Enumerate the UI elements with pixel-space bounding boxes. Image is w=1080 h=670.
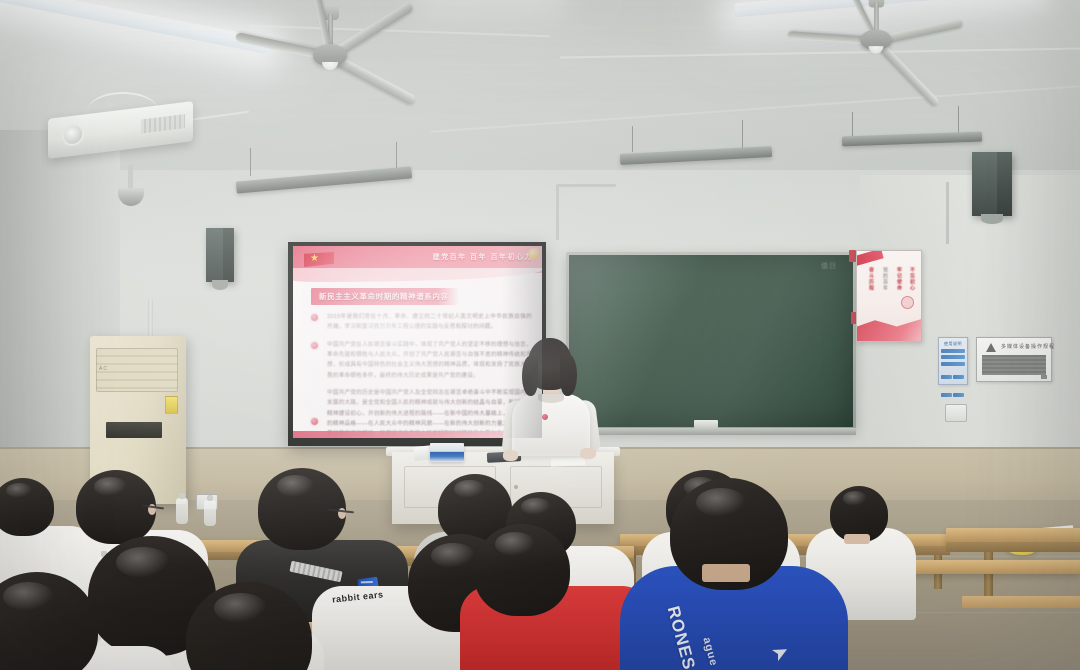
table-row — [946, 528, 1080, 542]
projection-screen: ★ 建党百年 百年 百年初心力 新民主主义革命时期的精神谱系内容 2019年是我… — [288, 242, 546, 446]
poster-wave-graphic — [857, 313, 921, 341]
student-neck — [844, 534, 870, 544]
speaker-grille — [972, 152, 997, 216]
presenter-right-hand — [580, 448, 596, 459]
projector-vent — [141, 114, 185, 133]
star-glyph: ★ — [310, 254, 319, 264]
poster-ribbon — [856, 250, 884, 267]
bottle-cap — [207, 495, 213, 501]
sign-row — [953, 393, 964, 397]
red-propaganda-poster: 不忘初心 牢记使命 党的百年 奋斗历程 — [856, 250, 922, 342]
sign-text-panel — [982, 355, 1046, 375]
ac-pipe — [148, 300, 153, 340]
desk-apron — [946, 542, 1080, 552]
pendant-wire — [742, 120, 743, 150]
white-warning-sign: 多媒体设备操作规程 — [976, 337, 1052, 382]
list-item: 2019年是我们党在十月、革命、建立的二十世纪人类文明史上中华民族自强的开端，学… — [307, 312, 532, 333]
ac-badge — [165, 396, 178, 414]
sign-row — [941, 349, 965, 353]
board-sheen — [569, 255, 853, 427]
bullet-dot-icon — [311, 342, 318, 349]
ac-display-vent — [106, 422, 162, 438]
student-head — [76, 470, 156, 544]
slide-title: 新民主主义革命时期的精神谱系内容 — [311, 288, 459, 305]
sign-row — [953, 375, 964, 379]
presenter-hair-strand — [560, 354, 577, 396]
powerpoint-slide: ★ 建党百年 百年 百年初心力 新民主主义革命时期的精神谱系内容 2019年是我… — [293, 246, 542, 438]
warning-triangle-icon — [986, 343, 996, 352]
bullet-dot-icon — [311, 418, 318, 425]
pendant-wire — [852, 112, 853, 136]
pendant-wire — [958, 106, 959, 134]
bottle-cap — [179, 493, 185, 499]
sign-row — [941, 393, 952, 397]
water-bottle-center[interactable] — [204, 500, 216, 526]
wall-conduit — [556, 186, 559, 240]
wall-speaker-left — [206, 228, 234, 282]
chalkboard-note: 值日 — [821, 261, 837, 271]
sign-row — [941, 355, 965, 359]
board-eraser[interactable] — [694, 420, 718, 428]
chalkboard-surface: 值日 — [569, 255, 853, 427]
blue-instruction-sign: 使用说明 — [938, 337, 968, 385]
student-head — [474, 524, 570, 616]
podium-knob[interactable] — [514, 485, 518, 489]
student-neck — [702, 564, 750, 582]
board-clip — [849, 250, 856, 262]
poster-column-2: 牢记使命 — [893, 267, 902, 291]
presenter-shadow — [502, 246, 542, 438]
poster-seal — [901, 296, 914, 309]
speaker-bracket — [212, 280, 228, 290]
chalk-tray — [566, 428, 856, 435]
fan-downrod — [874, 2, 879, 33]
projector-lens — [62, 122, 84, 147]
speaker-bracket — [981, 214, 1003, 224]
green-chalkboard: 值日 — [566, 252, 856, 430]
party-emblem-icon: ★ — [304, 248, 334, 272]
bench-seat — [962, 596, 1080, 608]
sign-title: 多媒体设备操作规程 — [1001, 343, 1055, 350]
wall-speaker-right — [972, 152, 1012, 216]
desk-leg — [984, 552, 993, 596]
sign-title: 使用说明 — [941, 341, 965, 347]
ac-logo: AC — [99, 366, 108, 372]
blue-white-box-on-podium — [430, 443, 464, 462]
ac-grille — [96, 348, 178, 392]
presenter-left-hand — [503, 450, 518, 461]
flag-shape — [304, 252, 334, 267]
presenter-badge — [542, 414, 548, 420]
sign-row — [941, 375, 952, 379]
wall-conduit — [946, 182, 949, 244]
poster-column-4: 奋斗历程 — [865, 267, 874, 291]
speaker-grille — [206, 228, 223, 282]
classroom-photo: 值日 不忘初心 牢记使命 党的百年 奋斗历程 使用说明 多媒体设备操作规程 — [0, 0, 1080, 670]
poster-column-3: 党的百年 — [879, 267, 888, 291]
student-head — [0, 478, 54, 536]
poster-column-1: 不忘初心 — [906, 267, 915, 291]
wall-conduit — [556, 184, 616, 187]
pendant-wire — [250, 148, 251, 176]
bullet-dot-icon — [311, 314, 318, 321]
water-bottle-left[interactable] — [176, 498, 188, 524]
sign-corner-mark — [1041, 375, 1047, 379]
sign-row — [941, 362, 965, 366]
wall-outlet[interactable] — [945, 404, 967, 422]
pendant-wire — [632, 126, 633, 152]
